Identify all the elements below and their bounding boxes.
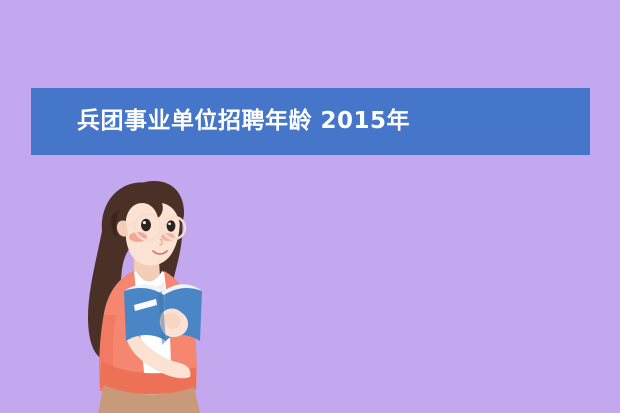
eye-left-highlight xyxy=(143,221,146,224)
eye-left xyxy=(141,219,151,231)
eye-right xyxy=(167,220,176,231)
page-title: 兵团事业单位招聘年龄 2015年 xyxy=(77,110,410,133)
woman-reading-book-illustration xyxy=(40,165,220,413)
title-banner: 兵团事业单位招聘年龄 2015年 xyxy=(31,88,590,155)
article-cover: 兵团事业单位招聘年龄 2015年 xyxy=(0,0,620,413)
eye-right-highlight xyxy=(168,223,171,226)
